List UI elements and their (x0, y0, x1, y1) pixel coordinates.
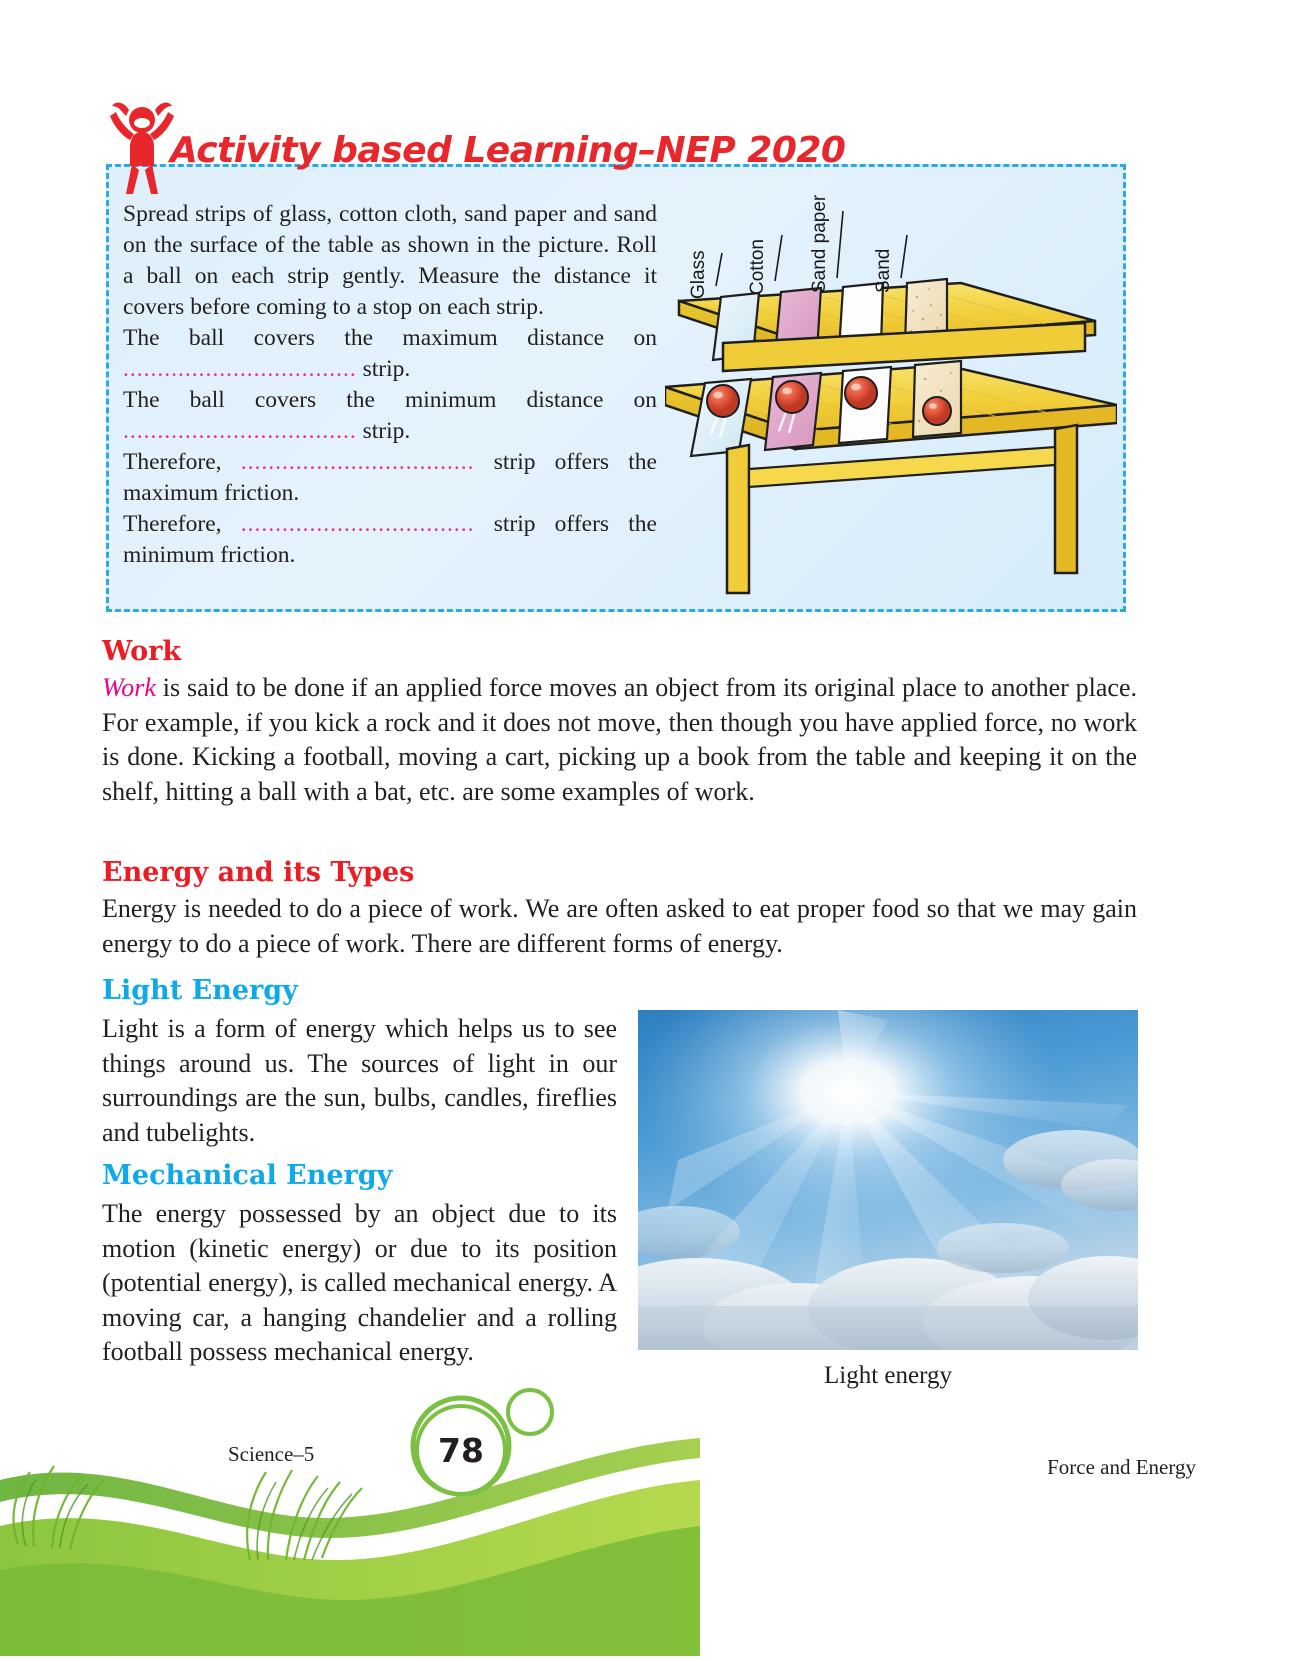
work-emphasis: Work (102, 673, 156, 702)
min-distance-suffix: strip. (363, 418, 411, 444)
min-friction-blank[interactable]: .................................. (241, 511, 475, 537)
heading-mechanical-energy: Mechanical Energy (102, 1160, 617, 1191)
paragraph-light-energy: Light is a form of energy which helps us… (102, 1012, 617, 1150)
strip-label-sand-paper: Sand paper (809, 195, 831, 293)
max-distance-blank[interactable]: .................................. (123, 356, 357, 382)
footer-book-title: Science–5 (228, 1442, 314, 1467)
activity-min-distance-line: The ball covers the minimum distance on … (123, 385, 657, 447)
footer-grass-decoration (0, 1330, 700, 1656)
activity-heading: Activity based Learning–NEP 2020 (170, 130, 845, 171)
activity-mascot-icon (106, 96, 178, 196)
strip-label-glass: Glass (688, 250, 710, 299)
activity-box: Spread strips of glass, cotton cloth, sa… (106, 164, 1126, 612)
strip-label-sand: Sand (873, 249, 895, 293)
light-energy-photo (638, 1010, 1138, 1350)
paragraph-work: Work is said to be done if an applied fo… (102, 671, 1137, 809)
friction-experiment-illustration: Glass Cotton Sand paper Sand (665, 173, 1117, 603)
work-paragraph-text: is said to be done if an applied force m… (102, 673, 1137, 806)
min-distance-blank[interactable]: .................................. (123, 418, 357, 444)
photo-caption: Light energy (638, 1362, 1138, 1390)
footer-chapter-title: Force and Energy (1047, 1455, 1196, 1480)
activity-instructions: Spread strips of glass, cotton cloth, sa… (123, 199, 657, 571)
max-friction-blank[interactable]: .................................. (241, 449, 475, 475)
strip-label-cotton: Cotton (747, 239, 769, 295)
paragraph-energy: Energy is needed to do a piece of work. … (102, 892, 1137, 961)
heading-light-energy: Light Energy (102, 975, 617, 1006)
max-distance-suffix: strip. (363, 356, 411, 382)
section-energy-types: Energy and its Types Energy is needed to… (102, 857, 1137, 961)
heading-work: Work (102, 636, 1137, 667)
max-distance-text: The ball covers the maximum distance on (123, 325, 657, 351)
min-friction-prefix: Therefore, (123, 511, 222, 537)
heading-energy-and-its-types: Energy and its Types (102, 857, 1137, 888)
activity-min-friction-line: Therefore, .............................… (123, 509, 657, 571)
section-work: Work Work is said to be done if an appli… (102, 636, 1137, 809)
activity-intro-paragraph: Spread strips of glass, cotton cloth, sa… (123, 199, 657, 323)
activity-max-distance-line: The ball covers the maximum distance on … (123, 323, 657, 385)
activity-max-friction-line: Therefore, .............................… (123, 447, 657, 509)
min-distance-text: The ball covers the minimum distance on (123, 387, 657, 413)
page-number-badge: 78 (415, 1404, 507, 1496)
section-light-energy: Light Energy Light is a form of energy w… (102, 975, 617, 1150)
max-friction-prefix: Therefore, (123, 449, 222, 475)
